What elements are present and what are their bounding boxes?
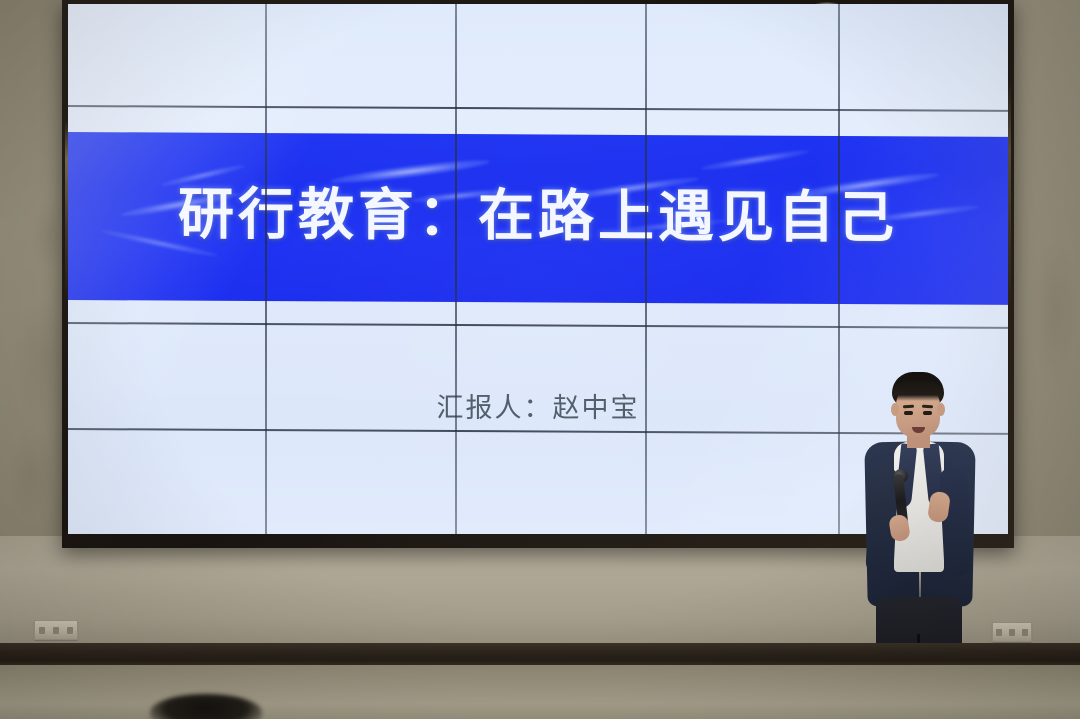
panel-seam-vertical-4 bbox=[838, 4, 840, 534]
presenter-hair-fringe bbox=[893, 381, 943, 401]
room-wall-left-pier bbox=[0, 0, 70, 560]
wall-outlet-right[interactable] bbox=[992, 622, 1032, 642]
outlet-socket bbox=[67, 627, 73, 634]
presenter-ear-left bbox=[891, 403, 899, 416]
presenter-arm-right bbox=[939, 467, 973, 576]
panel-seam-vertical-3 bbox=[645, 4, 647, 534]
slide-title-text: 研行教育：在路上遇见自己 bbox=[178, 186, 898, 246]
outlet-socket bbox=[53, 627, 59, 634]
outlet-socket bbox=[39, 627, 45, 634]
presenter-ear-right bbox=[937, 403, 945, 416]
presenter-eye-left bbox=[904, 411, 913, 415]
wall-outlet-left[interactable] bbox=[34, 620, 78, 640]
outlet-socket bbox=[1022, 629, 1028, 636]
presenter-eye-right bbox=[923, 411, 932, 415]
outlet-socket bbox=[1009, 629, 1015, 636]
panel-seam-vertical-2 bbox=[455, 4, 457, 534]
slide-presenter-text: 汇报人：赵中宝 bbox=[437, 386, 640, 425]
screenshot-root: 研行教育：在路上遇见自己 汇报人：赵中宝 bbox=[0, 0, 1080, 719]
slide-title: 研行教育：在路上遇见自己 bbox=[68, 130, 1008, 303]
room-baseboard bbox=[0, 643, 1080, 667]
panel-seam-horizontal-2 bbox=[68, 322, 1008, 329]
outlet-socket bbox=[996, 629, 1002, 636]
panel-seam-vertical-1 bbox=[265, 4, 267, 534]
panel-seam-horizontal-1 bbox=[68, 105, 1008, 112]
